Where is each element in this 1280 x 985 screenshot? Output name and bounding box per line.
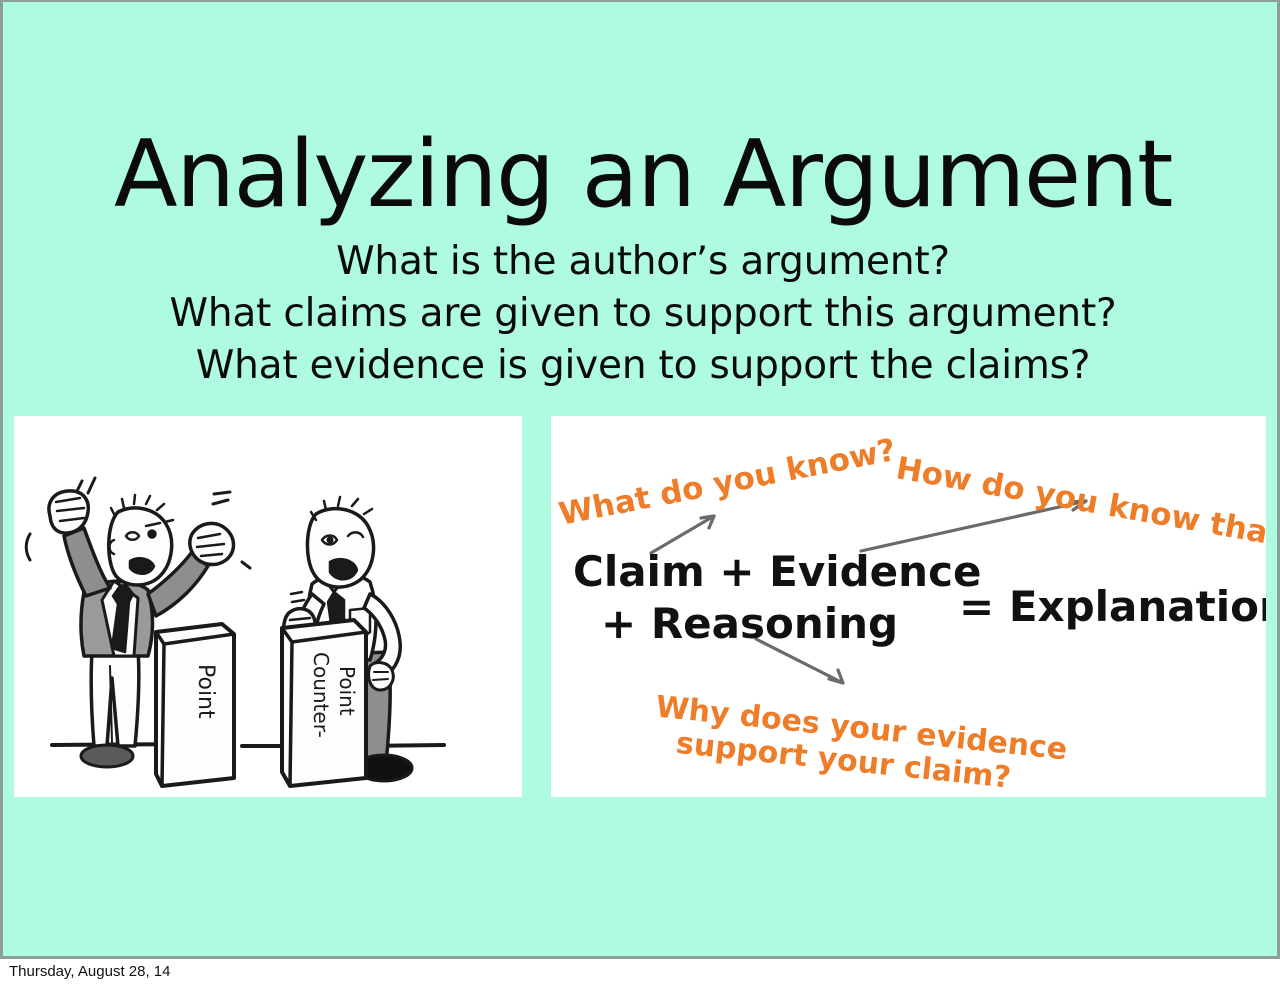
podium-label-counterpoint-line1: Counter- (309, 652, 333, 738)
cartoon-debate-image: Point Counter- Point (14, 416, 522, 797)
cartoon-debate-illustration: Point Counter- Point (14, 416, 522, 797)
equation-line-2: + Reasoning (601, 599, 898, 648)
slide-footer: Thursday, August 28, 14 (0, 959, 1280, 985)
subtitle-line-3: What evidence is given to support the cl… (3, 340, 1280, 392)
cer-diagram-illustration: What do you know? How do you know that? … (551, 416, 1266, 797)
slide-root: Analyzing an Argument What is the author… (0, 0, 1280, 985)
subtitle-block: What is the author’s argument? What clai… (3, 236, 1280, 392)
presentation-slide: Analyzing an Argument What is the author… (0, 0, 1280, 959)
subtitle-line-2: What claims are given to support this ar… (3, 288, 1280, 340)
claim-evidence-reasoning-diagram: What do you know? How do you know that? … (551, 416, 1266, 797)
podium-label-point: Point (193, 664, 218, 719)
page-title: Analyzing an Argument (3, 126, 1280, 224)
subtitle-line-1: What is the author’s argument? (3, 236, 1280, 288)
podium-label-counterpoint-line2: Point (335, 666, 359, 716)
equation-line-1: Claim + Evidence (573, 547, 981, 596)
footer-date: Thursday, August 28, 14 (9, 963, 171, 980)
equation-result: = Explanation (959, 582, 1266, 631)
